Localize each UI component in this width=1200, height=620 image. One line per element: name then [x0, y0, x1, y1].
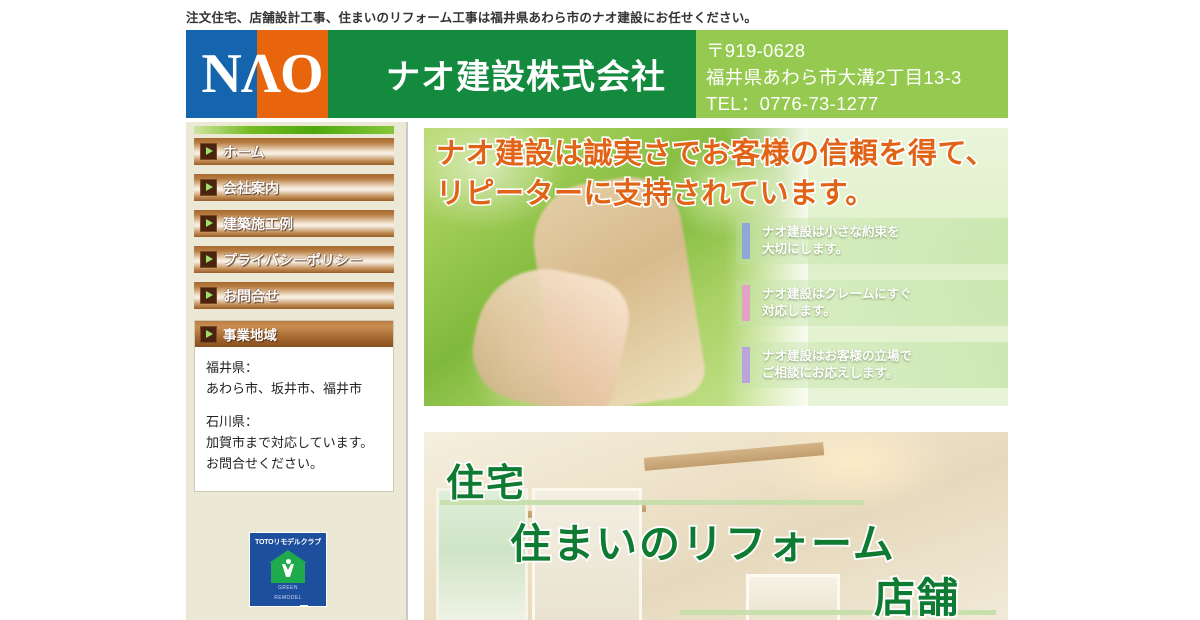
toto-brand-mark: TOTO [268, 606, 283, 607]
header-contact-block: 〒919-0628 福井県あわら市大溝2丁目13-3 TEL：0776-73-1… [706, 38, 962, 118]
promise-accent-bar [742, 223, 750, 259]
area-spacer [206, 399, 382, 411]
person-figure-icon [282, 559, 294, 579]
arrow-right-icon [200, 179, 217, 196]
figure-head [286, 559, 291, 564]
top-catch-copy: 注文住宅、店舗設計工事、住まいのリフォーム工事は福井県あわら市のナオ建設にお任せ… [186, 7, 1006, 26]
figure-body [282, 564, 294, 577]
sidebar-item-label: お問合せ [223, 286, 279, 306]
service-label-housing: 住宅 [446, 452, 526, 507]
arrow-right-icon [200, 287, 217, 304]
street-address: 福井県あわら市大溝2丁目13-3 [706, 65, 962, 92]
toto-remodel-club-banner[interactable]: TOTOリモデルクラブ GREEN REMODEL TOTO [249, 532, 327, 607]
arrow-right-icon [200, 251, 217, 268]
sidebar-item-privacy-policy[interactable]: プライバシーポリシー [194, 246, 394, 273]
service-area-title: 事業地域 [223, 324, 277, 344]
sidebar-item-construction-examples[interactable]: 建築施工例 [194, 210, 394, 237]
nao-logo[interactable]: NΛO [192, 46, 332, 102]
area-fukui-label: 福井県： [206, 357, 382, 378]
promise-item-3: ナオ建設はお客様の立場で ご相談にお応えします。 [736, 342, 1008, 388]
sidebar-item-contact[interactable]: お問合せ [194, 282, 394, 309]
remodel-square-icon [300, 605, 308, 607]
service-area-body: 福井県： あわら市、坂井市、福井市 石川県： 加賀市まで対応しています。 お問合… [195, 347, 393, 491]
postal-code: 〒919-0628 [706, 38, 962, 65]
arrow-right-icon [200, 143, 217, 160]
arrow-right-icon [200, 326, 217, 343]
services-banner[interactable]: 住宅 住まいのリフォーム 店舗 [424, 432, 1008, 620]
service-area-box: 事業地域 福井県： あわら市、坂井市、福井市 石川県： 加賀市まで対応しています… [194, 320, 394, 492]
main-content: ナオ建設は誠実さでお客様の信頼を得て、 リピーターに支持されています。 ナオ建設… [424, 122, 1008, 620]
sidebar-item-label: 建築施工例 [223, 214, 293, 234]
sidebar-item-home[interactable]: ホーム [194, 138, 394, 165]
promise-text: ナオ建設は小さな約束を 大切にします。 [762, 224, 900, 258]
promise-item-1: ナオ建設は小さな約束を 大切にします。 [736, 218, 1008, 264]
arrow-right-icon [200, 215, 217, 232]
remodel-dot-icon [288, 606, 295, 608]
area-ishikawa-note: 加賀市まで対応しています。 [206, 432, 382, 453]
sidebar-item-label: プライバシーポリシー [223, 250, 363, 270]
toto-sub-green: GREEN [250, 585, 326, 593]
promise-accent-bar [742, 285, 750, 321]
promise-list: ナオ建設は小さな約束を 大切にします。 ナオ建設はクレームにすぐ 対応します。 … [736, 218, 1008, 404]
promise-text: ナオ建設はお客様の立場で ご相談にお応えします。 [762, 348, 912, 382]
sidebar-accent-bar [194, 126, 394, 134]
main-navigation: ホーム 会社案内 建築施工例 プライバシーポリシー お問合せ [194, 138, 394, 318]
service-area-header: 事業地域 [195, 321, 393, 347]
sidebar: ホーム 会社案内 建築施工例 プライバシーポリシー お問合せ 事業地 [186, 122, 408, 620]
telephone: TEL：0776-73-1277 [706, 91, 962, 118]
hero-banner[interactable]: ナオ建設は誠実さでお客様の信頼を得て、 リピーターに支持されています。 ナオ建設… [424, 128, 1008, 406]
toto-banner-footer: TOTO [250, 605, 326, 607]
toto-banner-title: TOTOリモデルクラブ [250, 537, 326, 547]
area-contact-note: お問合せください。 [206, 453, 382, 474]
hero-headline-line2: リピーターに支持されています。 [436, 174, 1006, 214]
promise-text: ナオ建設はクレームにすぐ 対応します。 [762, 286, 912, 320]
page-root: 注文住宅、店舗設計工事、住まいのリフォーム工事は福井県あわら市のナオ建設にお任せ… [0, 0, 1200, 620]
toto-sub-remodel: REMODEL [250, 595, 326, 603]
hero-headline: ナオ建設は誠実さでお客様の信頼を得て、 リピーターに支持されています。 [436, 134, 1006, 214]
site-header: NΛO ナオ建設株式会社 〒919-0628 福井県あわら市大溝2丁目13-3 … [186, 30, 1008, 118]
service-label-reform: 住まいのリフォーム [510, 510, 896, 570]
ceiling-beam-shape [644, 442, 824, 471]
sidebar-item-label: ホーム [223, 142, 265, 162]
sidebar-item-company-info[interactable]: 会社案内 [194, 174, 394, 201]
hero-headline-line1: ナオ建設は誠実さでお客様の信頼を得て、 [436, 134, 1006, 174]
area-fukui-cities: あわら市、坂井市、福井市 [206, 378, 382, 399]
service-label-shop: 店舗 [874, 564, 960, 620]
green-house-icon [269, 550, 307, 583]
sidebar-item-label: 会社案内 [223, 178, 279, 198]
company-name: ナオ建設株式会社 [386, 50, 666, 99]
area-ishikawa-label: 石川県： [206, 411, 382, 432]
promise-accent-bar [742, 347, 750, 383]
promise-item-2: ナオ建設はクレームにすぐ 対応します。 [736, 280, 1008, 326]
